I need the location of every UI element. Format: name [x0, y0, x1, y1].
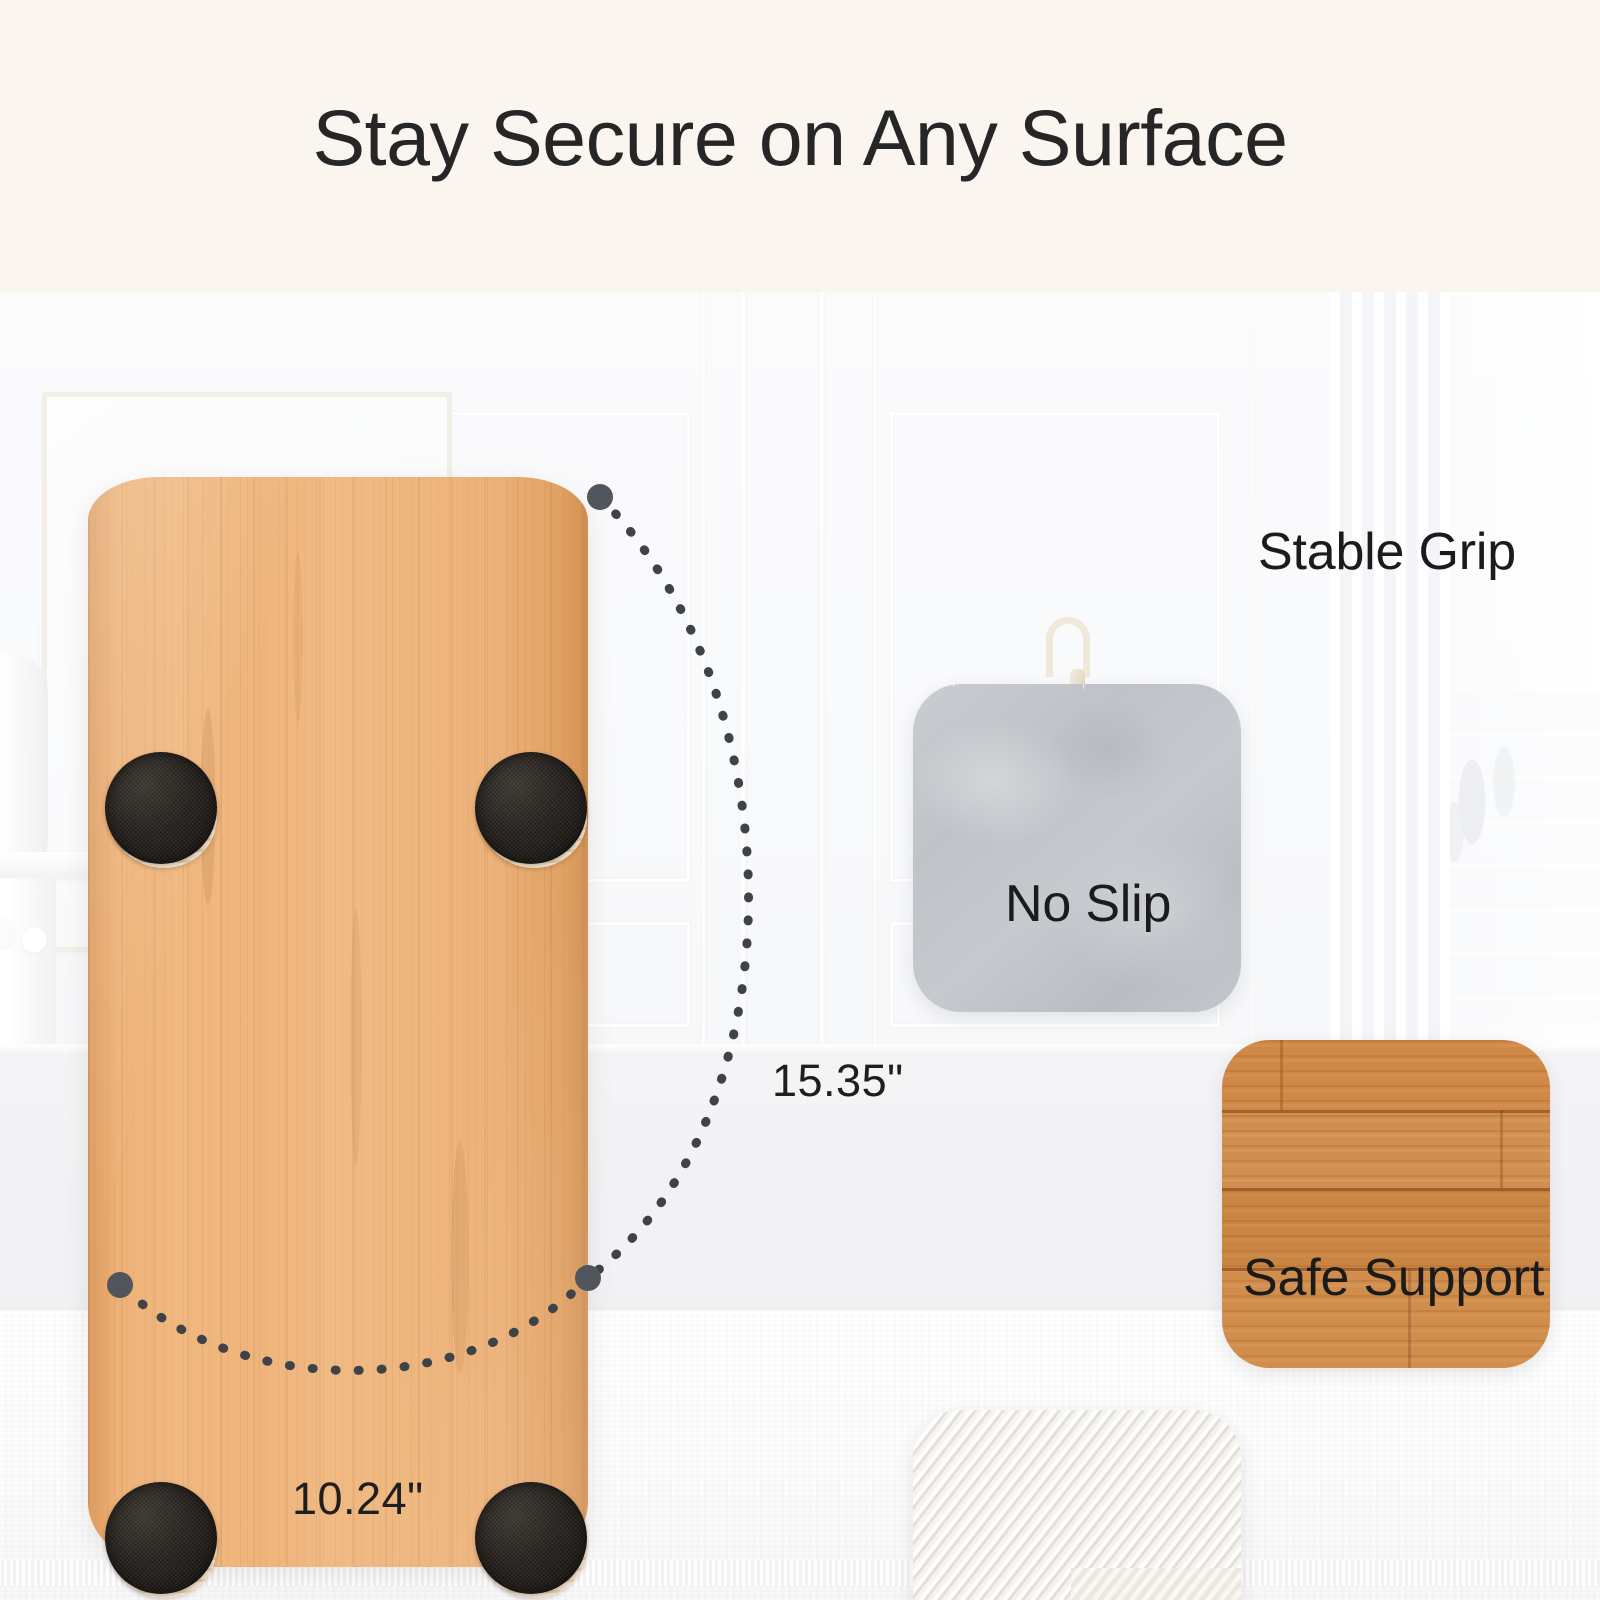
feature-label-no-slip: No Slip	[1005, 874, 1171, 934]
plank-seam	[1280, 1040, 1283, 1110]
wooden-board	[88, 477, 588, 1567]
plank-seam	[1222, 1188, 1550, 1191]
felt-pad-bottom-left	[105, 1482, 223, 1600]
woven-carpet-swatch	[913, 1410, 1241, 1600]
header-band: Stay Secure on Any Surface	[0, 0, 1600, 292]
carpet-weave-accent	[1071, 1568, 1241, 1600]
hook-arc	[1046, 617, 1090, 677]
felt-pad-top-left	[105, 752, 223, 870]
felt-pad-disc	[475, 752, 587, 864]
felt-pad-top-right	[475, 752, 593, 870]
house-plant	[1432, 722, 1552, 1022]
plank-seam	[1500, 1110, 1503, 1188]
dimension-height-label: 15.35"	[772, 1055, 904, 1107]
page-title: Stay Secure on Any Surface	[312, 92, 1287, 200]
hardwood-floor-swatch	[1222, 1040, 1550, 1368]
board-sheen	[88, 477, 588, 1567]
dimension-width-label: 10.24"	[292, 1473, 424, 1525]
marble-surface-swatch	[913, 684, 1241, 1012]
room-scene	[0, 292, 1600, 1600]
feature-label-stable-grip: Stable Grip	[1258, 522, 1516, 582]
felt-pad-disc	[475, 1482, 587, 1594]
felt-pad-disc	[105, 752, 217, 864]
felt-pad-disc	[105, 1482, 217, 1594]
decor-vase	[0, 652, 48, 857]
felt-pad-bottom-right	[475, 1482, 593, 1600]
mantel-scrollwork	[0, 902, 80, 972]
feature-label-safe-support: Safe Support	[1243, 1248, 1544, 1308]
